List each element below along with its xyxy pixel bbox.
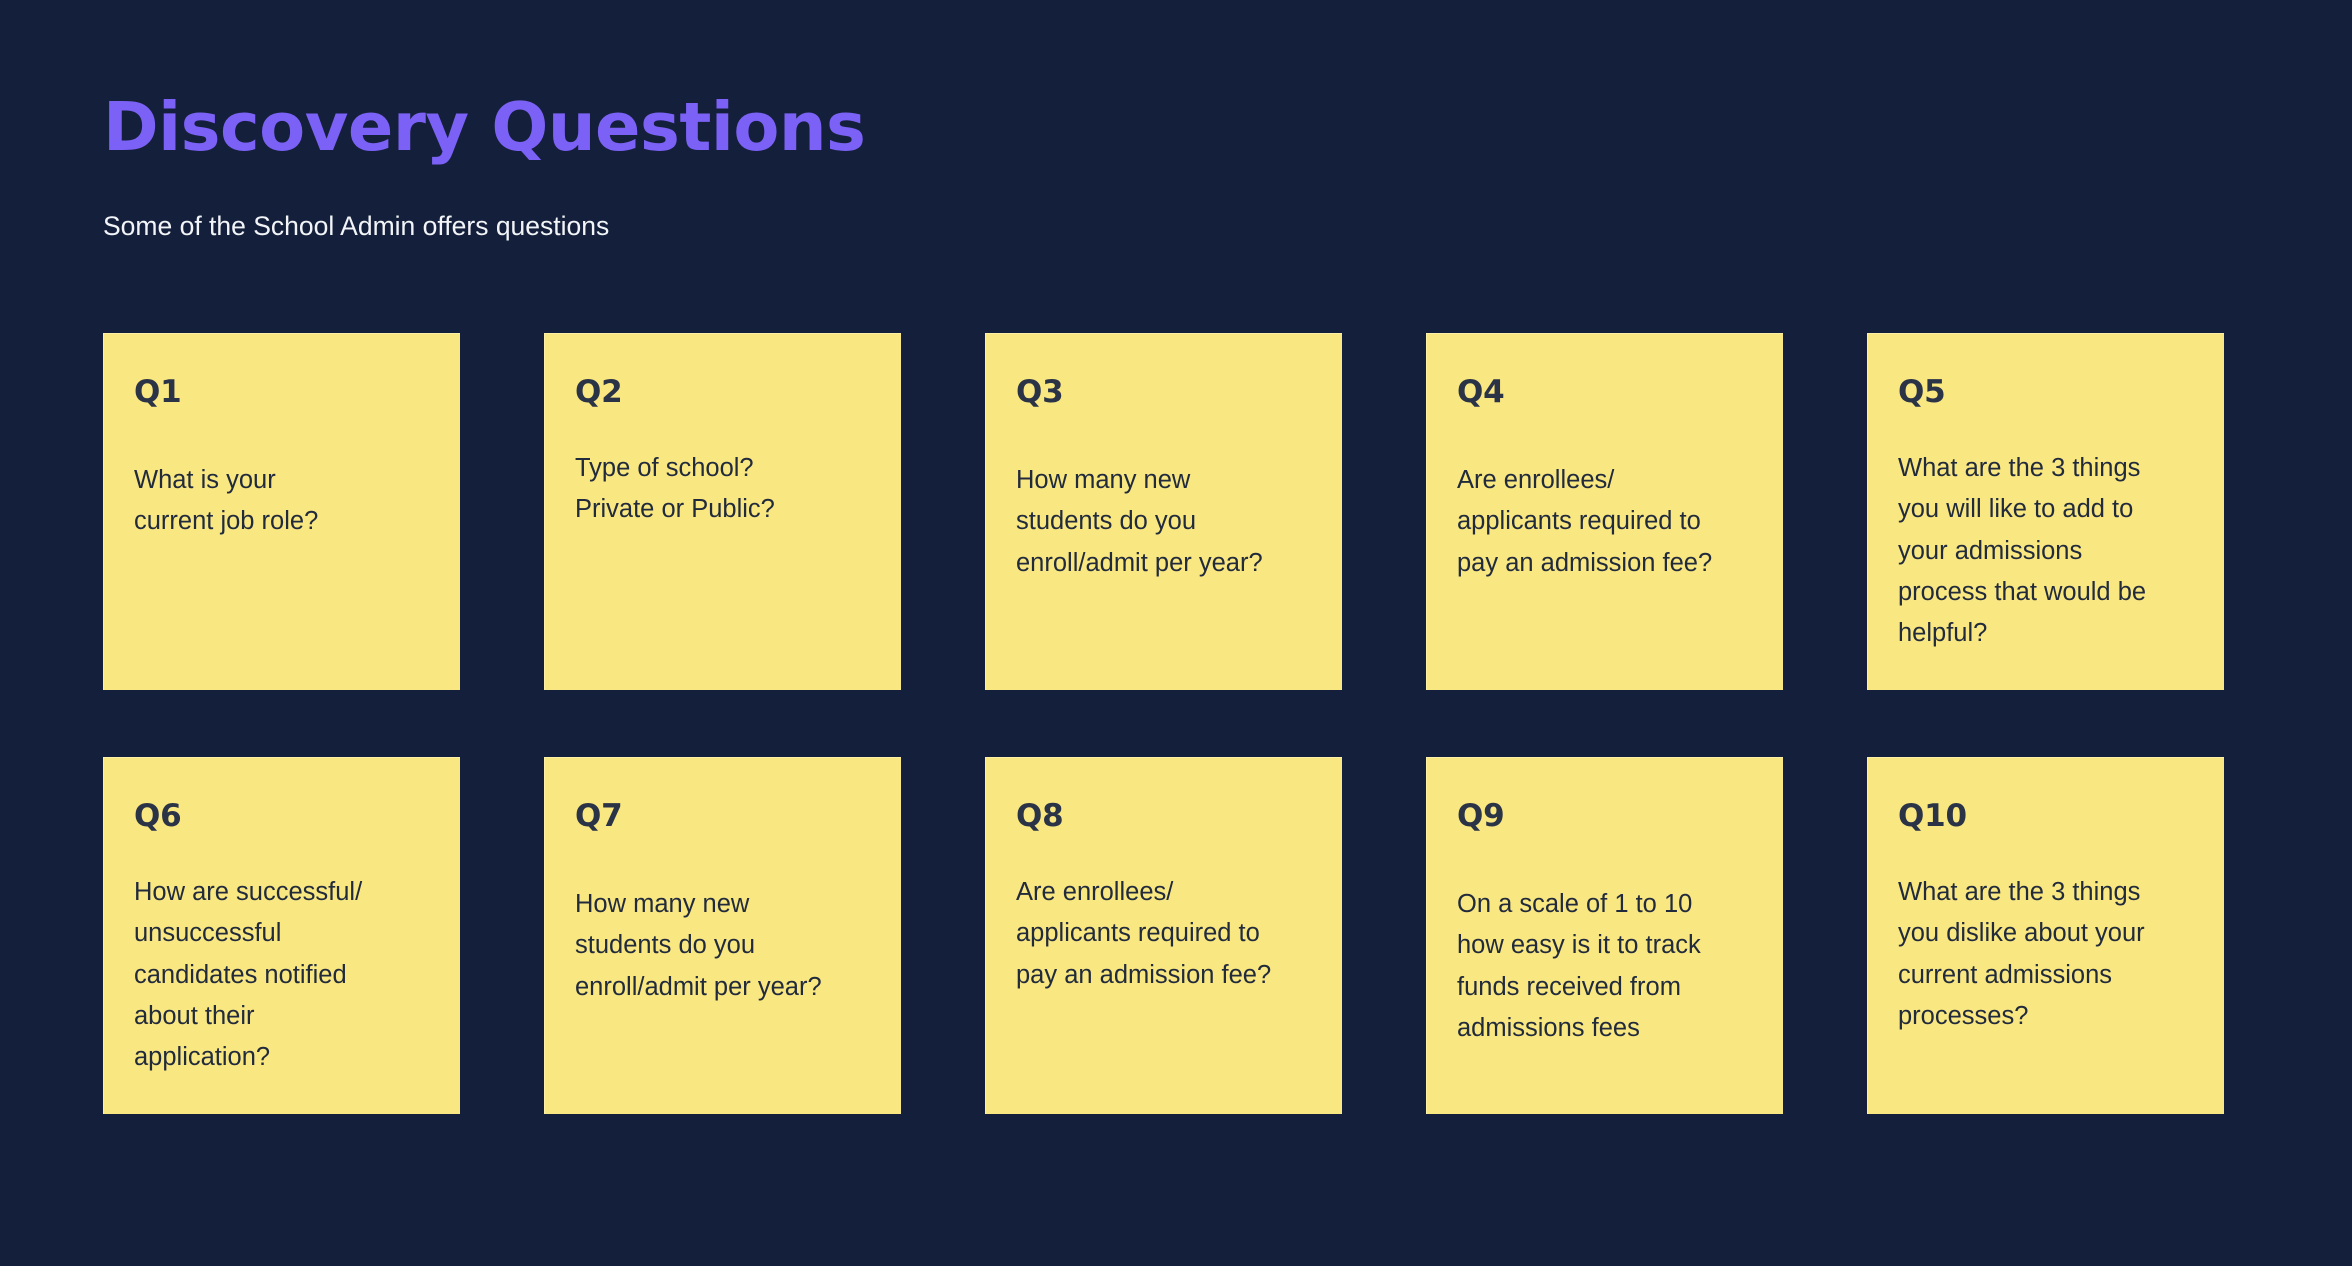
question-card-q3[interactable]: Q3 How many new students do you enroll/a… bbox=[985, 333, 1342, 690]
question-card-label: Q5 bbox=[1898, 377, 2194, 408]
question-card-q2[interactable]: Q2 Type of school? Private or Public? bbox=[544, 333, 901, 690]
question-card-q8[interactable]: Q8 Are enrollees/ applicants required to… bbox=[985, 757, 1342, 1114]
question-card-text: Are enrollees/ applicants required to pa… bbox=[1457, 408, 1753, 584]
question-card-label: Q9 bbox=[1457, 801, 1753, 832]
discovery-questions-board: Discovery Questions Some of the School A… bbox=[0, 0, 2352, 1266]
page-title: Discovery Questions bbox=[103, 90, 1503, 165]
question-card-label: Q6 bbox=[134, 801, 430, 832]
question-card-label: Q8 bbox=[1016, 801, 1312, 832]
question-card-text: How are successful/ unsuccessful candida… bbox=[134, 832, 430, 1078]
question-card-label: Q10 bbox=[1898, 801, 2194, 832]
question-card-q4[interactable]: Q4 Are enrollees/ applicants required to… bbox=[1426, 333, 1783, 690]
question-card-q1[interactable]: Q1 What is your current job role? bbox=[103, 333, 460, 690]
question-card-label: Q2 bbox=[575, 377, 871, 408]
question-card-text: Type of school? Private or Public? bbox=[575, 408, 871, 531]
question-card-label: Q7 bbox=[575, 801, 871, 832]
question-card-text: What are the 3 things you dislike about … bbox=[1898, 832, 2194, 1037]
question-card-text: On a scale of 1 to 10 how easy is it to … bbox=[1457, 832, 1753, 1049]
question-card-label: Q4 bbox=[1457, 377, 1753, 408]
question-card-q7[interactable]: Q7 How many new students do you enroll/a… bbox=[544, 757, 901, 1114]
board-header: Discovery Questions Some of the School A… bbox=[103, 90, 1503, 243]
question-card-q9[interactable]: Q9 On a scale of 1 to 10 how easy is it … bbox=[1426, 757, 1783, 1114]
question-card-label: Q1 bbox=[134, 377, 430, 408]
question-card-text: What are the 3 things you will like to a… bbox=[1898, 408, 2194, 654]
question-card-q6[interactable]: Q6 How are successful/ unsuccessful cand… bbox=[103, 757, 460, 1114]
question-card-text: Are enrollees/ applicants required to pa… bbox=[1016, 832, 1312, 996]
question-card-label: Q3 bbox=[1016, 377, 1312, 408]
question-card-text: What is your current job role? bbox=[134, 408, 430, 543]
question-card-q10[interactable]: Q10 What are the 3 things you dislike ab… bbox=[1867, 757, 2224, 1114]
question-card-text: How many new students do you enroll/admi… bbox=[1016, 408, 1312, 584]
question-card-text: How many new students do you enroll/admi… bbox=[575, 832, 871, 1008]
page-subtitle: Some of the School Admin offers question… bbox=[103, 165, 1503, 243]
question-card-q5[interactable]: Q5 What are the 3 things you will like t… bbox=[1867, 333, 2224, 690]
question-cards-grid: Q1 What is your current job role? Q2 Typ… bbox=[103, 333, 2223, 1114]
